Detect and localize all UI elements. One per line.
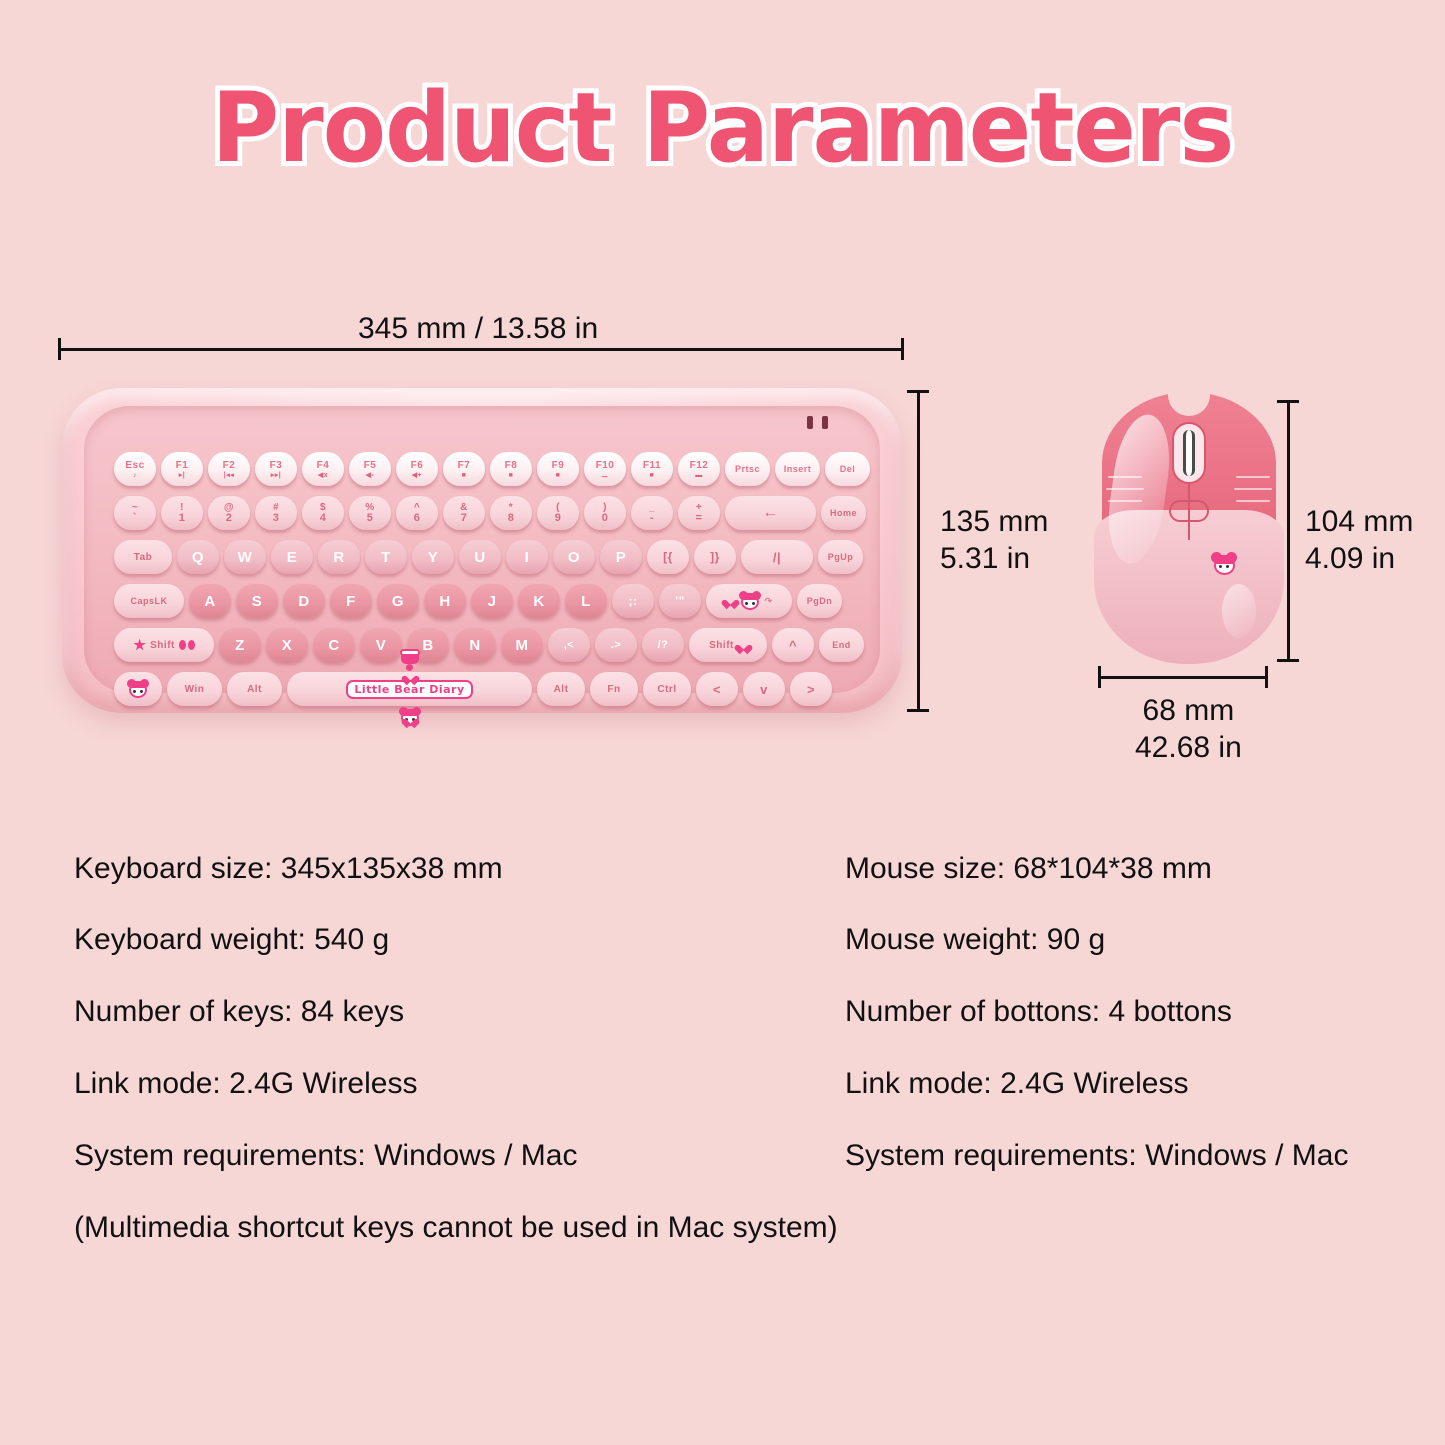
keyboard-inner-plate: Esc♪ F1▸| F2|◂◂ F3▸▸| F4◀x F5◀- F6◀+ F7■… bbox=[84, 406, 880, 693]
key-backtick[interactable]: ~ ` bbox=[114, 496, 156, 530]
key-3[interactable]: # 3 bbox=[255, 496, 297, 530]
key-f2[interactable]: F2|◂◂ bbox=[208, 452, 250, 486]
key-esc[interactable]: Esc♪ bbox=[114, 452, 156, 486]
whisker-line bbox=[1236, 476, 1270, 478]
spec-mouse-system: System requirements: Windows / Mac bbox=[845, 1139, 1348, 1173]
key-ctrl[interactable]: Ctrl bbox=[643, 672, 691, 706]
key-a[interactable]: A bbox=[189, 584, 231, 618]
key-slash[interactable]: /? bbox=[642, 628, 684, 662]
key-d[interactable]: D bbox=[283, 584, 325, 618]
bear-face-icon bbox=[739, 591, 761, 611]
key-9[interactable]: ( 9 bbox=[537, 496, 579, 530]
mouse-width-cap-right bbox=[1265, 666, 1268, 688]
key-f1[interactable]: F1▸| bbox=[161, 452, 203, 486]
key-t[interactable]: T bbox=[365, 540, 407, 574]
mouse-highlight bbox=[1222, 584, 1256, 638]
whisker-line bbox=[1236, 500, 1270, 502]
key-win[interactable]: Win bbox=[167, 672, 222, 706]
media-icon: ♪ bbox=[133, 472, 137, 479]
home-page-icon: ■ bbox=[509, 472, 514, 479]
spec-keyboard-system: System requirements: Windows / Mac bbox=[74, 1139, 577, 1173]
whisker-line bbox=[1234, 488, 1272, 490]
keyboard-width-cap-left bbox=[58, 338, 61, 360]
keycap-plate: Esc♪ F1▸| F2|◂◂ F3▸▸| F4◀x F5◀- F6◀+ F7■… bbox=[114, 442, 856, 679]
key-s[interactable]: S bbox=[236, 584, 278, 618]
key-f10[interactable]: F10⚊ bbox=[584, 452, 626, 486]
key-backspace[interactable]: ← bbox=[725, 496, 816, 530]
key-0[interactable]: ) 0 bbox=[584, 496, 626, 530]
key-alt-left[interactable]: Alt bbox=[227, 672, 282, 706]
key-end[interactable]: End bbox=[819, 628, 864, 662]
key-u[interactable]: U bbox=[459, 540, 501, 574]
key-q[interactable]: Q bbox=[177, 540, 219, 574]
lock-icon: ⚊ bbox=[602, 472, 609, 479]
key-shift-left[interactable]: Shift bbox=[114, 628, 214, 662]
key-p[interactable]: P bbox=[600, 540, 642, 574]
key-tab[interactable]: Tab bbox=[114, 540, 172, 574]
key-5[interactable]: % 5 bbox=[349, 496, 391, 530]
mouse-height-label: 104 mm 4.09 in bbox=[1305, 503, 1413, 577]
next-icon: ▸▸| bbox=[271, 472, 282, 479]
keyboard-row-qwerty: Tab Q W E R T Y U I O P [{ ]} /| PgUp bbox=[114, 540, 863, 574]
key-period[interactable]: .> bbox=[595, 628, 637, 662]
volume-down-icon: ◀- bbox=[366, 472, 375, 479]
keyboard-height-label: 135 mm 5.31 in bbox=[940, 503, 1048, 577]
key-del[interactable]: Del bbox=[825, 452, 870, 486]
star-icon bbox=[133, 639, 146, 652]
keyboard-row-numbers: ~ ` ! 1 @ 2 # 3 $ 4 % 5 ^ bbox=[114, 496, 866, 530]
key-w[interactable]: W bbox=[224, 540, 266, 574]
key-insert[interactable]: Insert bbox=[775, 452, 820, 486]
window-icon: ■ bbox=[650, 472, 655, 479]
keyboard-width-cap-right bbox=[901, 338, 904, 360]
keyboard-illustration: Esc♪ F1▸| F2|◂◂ F3▸▸| F4◀x F5◀- F6◀+ F7■… bbox=[62, 388, 902, 713]
enter-arrow-icon: ↷ bbox=[764, 596, 772, 607]
mouse-width-line bbox=[1098, 676, 1268, 679]
key-8[interactable]: * 8 bbox=[490, 496, 532, 530]
led-indicator bbox=[807, 416, 813, 429]
mail-icon: ■ bbox=[462, 472, 467, 479]
page-title: Product Parameters bbox=[29, 72, 1416, 184]
keyboard-row-function: Esc♪ F1▸| F2|◂◂ F3▸▸| F4◀x F5◀- F6◀+ F7■… bbox=[114, 452, 870, 486]
key-enter[interactable]: ↷ bbox=[706, 584, 792, 618]
key-alt-right[interactable]: Alt bbox=[537, 672, 585, 706]
led-indicator bbox=[822, 416, 828, 429]
key-arrow-up[interactable]: ^ bbox=[772, 628, 814, 662]
key-capslock[interactable]: CapsLK bbox=[114, 584, 184, 618]
key-r[interactable]: R bbox=[318, 540, 360, 574]
key-6[interactable]: ^ 6 bbox=[396, 496, 438, 530]
mouse-illustration bbox=[1094, 392, 1284, 664]
key-f7[interactable]: F7■ bbox=[443, 452, 485, 486]
key-semicolon[interactable]: ;: bbox=[612, 584, 654, 618]
key-f3[interactable]: F3▸▸| bbox=[255, 452, 297, 486]
key-7[interactable]: & 7 bbox=[443, 496, 485, 530]
keyboard-height-cap-bottom bbox=[907, 709, 929, 712]
key-arrow-left[interactable]: < bbox=[696, 672, 738, 706]
screen-icon: ▬ bbox=[695, 472, 703, 479]
key-f4[interactable]: F4◀x bbox=[302, 452, 344, 486]
key-k[interactable]: K bbox=[518, 584, 560, 618]
key-i[interactable]: I bbox=[506, 540, 548, 574]
spec-mouse-weight: Mouse weight: 90 g bbox=[845, 923, 1105, 957]
key-f11[interactable]: F11■ bbox=[631, 452, 673, 486]
key-f9[interactable]: F9■ bbox=[537, 452, 579, 486]
key-pgdn[interactable]: PgDn bbox=[797, 584, 842, 618]
key-c[interactable]: C bbox=[313, 628, 355, 662]
keyboard-width-label: 345 mm / 13.58 in bbox=[358, 310, 598, 347]
scroll-wheel[interactable] bbox=[1172, 422, 1206, 484]
key-arrow-right[interactable]: > bbox=[790, 672, 832, 706]
key-f[interactable]: F bbox=[330, 584, 372, 618]
key-space[interactable]: Little Bear Diary bbox=[287, 672, 532, 706]
spec-keyboard-link: Link mode: 2.4G Wireless bbox=[74, 1067, 417, 1101]
keyboard-row-shift: Shift Z X C V B N M ,< .> /? Shift ^ End bbox=[114, 628, 864, 662]
key-minus[interactable]: _ - bbox=[631, 496, 673, 530]
calc-icon: ■ bbox=[556, 472, 561, 479]
key-1[interactable]: ! 1 bbox=[161, 496, 203, 530]
bear-face-icon bbox=[127, 679, 149, 699]
key-j[interactable]: J bbox=[471, 584, 513, 618]
key-o[interactable]: O bbox=[553, 540, 595, 574]
mute-icon: ◀x bbox=[318, 472, 328, 479]
spec-mouse-size: Mouse size: 68*104*38 mm bbox=[845, 852, 1212, 886]
key-l[interactable]: L bbox=[565, 584, 607, 618]
key-quote[interactable]: '" bbox=[659, 584, 701, 618]
key-shift-right[interactable]: Shift bbox=[689, 628, 767, 662]
key-comma[interactable]: ,< bbox=[548, 628, 590, 662]
key-z[interactable]: Z bbox=[219, 628, 261, 662]
key-pgup[interactable]: PgUp bbox=[818, 540, 863, 574]
key-2[interactable]: @ 2 bbox=[208, 496, 250, 530]
key-fn-bear[interactable] bbox=[114, 672, 162, 706]
key-e[interactable]: E bbox=[271, 540, 313, 574]
key-backslash[interactable]: /| bbox=[741, 540, 813, 574]
bear-face-icon bbox=[1211, 552, 1237, 576]
key-f8[interactable]: F8■ bbox=[490, 452, 532, 486]
mouse-height-line bbox=[1287, 400, 1290, 662]
keyboard-row-home: CapsLK A S D F G H J K L ;: '" ↷ bbox=[114, 584, 842, 618]
keyboard-height-line bbox=[917, 390, 920, 712]
key-y[interactable]: Y bbox=[412, 540, 454, 574]
key-f12[interactable]: F12▬ bbox=[678, 452, 720, 486]
heart-icon bbox=[738, 641, 747, 649]
mouse-width-cap-left bbox=[1098, 666, 1101, 688]
key-f6[interactable]: F6◀+ bbox=[396, 452, 438, 486]
keyboard-row-bottom: Win Alt Little Bear Diary Alt Fn Ctrl < … bbox=[114, 672, 832, 706]
keyboard-height-cap-top bbox=[907, 390, 929, 393]
mouse-height-cap-top bbox=[1277, 400, 1299, 403]
cat-ear-notch bbox=[1168, 390, 1210, 416]
spec-keyboard-keys: Number of keys: 84 keys bbox=[74, 995, 404, 1029]
spec-mouse-buttons: Number of bottons: 4 bottons bbox=[845, 995, 1232, 1029]
dpi-button[interactable] bbox=[1169, 500, 1209, 522]
spec-note: (Multimedia shortcut keys cannot be used… bbox=[74, 1211, 838, 1245]
play-icon: ▸| bbox=[179, 472, 185, 479]
bow-icon bbox=[179, 639, 195, 651]
key-n[interactable]: N bbox=[454, 628, 496, 662]
prev-icon: |◂◂ bbox=[224, 472, 235, 479]
heart-icon bbox=[725, 596, 736, 606]
status-leds bbox=[807, 416, 828, 429]
mouse-width-label: 68 mm 42.68 in bbox=[1135, 692, 1242, 766]
backspace-arrow-icon: ← bbox=[762, 504, 779, 522]
key-f5[interactable]: F5◀- bbox=[349, 452, 391, 486]
key-4[interactable]: $ 4 bbox=[302, 496, 344, 530]
key-bracket-right[interactable]: ]} bbox=[694, 540, 736, 574]
key-bracket-left[interactable]: [{ bbox=[647, 540, 689, 574]
key-x[interactable]: X bbox=[266, 628, 308, 662]
spec-mouse-link: Link mode: 2.4G Wireless bbox=[845, 1067, 1188, 1101]
key-home[interactable]: Home bbox=[821, 496, 866, 530]
key-v[interactable]: V bbox=[360, 628, 402, 662]
mouse-height-cap-bottom bbox=[1277, 659, 1299, 662]
key-prtsc[interactable]: Prtsc bbox=[725, 452, 770, 486]
volume-up-icon: ◀+ bbox=[412, 472, 422, 479]
key-m[interactable]: M bbox=[501, 628, 543, 662]
keyboard-width-line bbox=[58, 348, 904, 351]
spec-keyboard-weight: Keyboard weight: 540 g bbox=[74, 923, 389, 957]
key-arrow-down[interactable]: v bbox=[743, 672, 785, 706]
key-g[interactable]: G bbox=[377, 584, 419, 618]
key-equal[interactable]: + = bbox=[678, 496, 720, 530]
key-h[interactable]: H bbox=[424, 584, 466, 618]
key-fn[interactable]: Fn bbox=[590, 672, 638, 706]
spec-keyboard-size: Keyboard size: 345x135x38 mm bbox=[74, 852, 503, 886]
